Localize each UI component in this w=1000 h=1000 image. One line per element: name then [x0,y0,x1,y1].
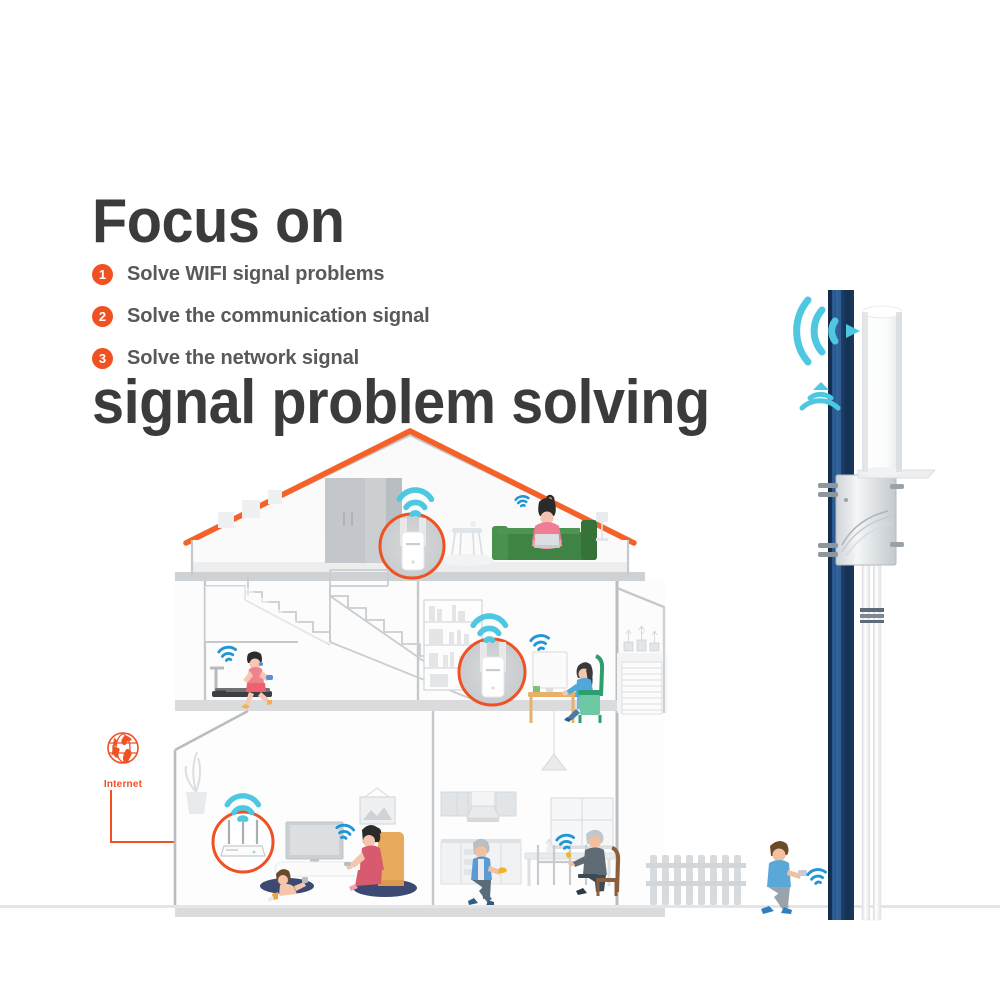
monitor [533,652,567,688]
list-item: 3 Solve the network signal [92,342,430,375]
cable-tubes [860,528,884,920]
signal-pointer-small [813,382,829,390]
bullet-number-1: 1 [92,264,113,285]
feature-list: 1 Solve WIFI signal problems 2 Solve the… [92,258,430,384]
list-item: 1 Solve WIFI signal problems [92,258,430,291]
range-hood [467,806,499,822]
dining-window [548,798,616,849]
bullet-number-3: 3 [92,348,113,369]
bullet-label-1: Solve WIFI signal problems [127,263,384,286]
cable-clamp [860,608,884,623]
list-item: 2 Solve the communication signal [92,300,430,333]
poster-canvas: Focus on signal problem solving 1 Solve … [0,0,1000,1000]
bullet-label-2: Solve the communication signal [127,305,430,328]
wifi-arc-small [802,394,838,408]
cellular-antenna-tower [790,290,1000,920]
page-title-line1: Focus on [92,192,710,252]
house-body [175,431,667,917]
white-cylindrical-antenna [862,306,902,477]
exterior-staircase [622,662,662,714]
television [286,822,343,863]
bullet-label-3: Solve the network signal [127,347,359,370]
bullet-number-2: 2 [92,306,113,327]
laptop [535,534,559,546]
